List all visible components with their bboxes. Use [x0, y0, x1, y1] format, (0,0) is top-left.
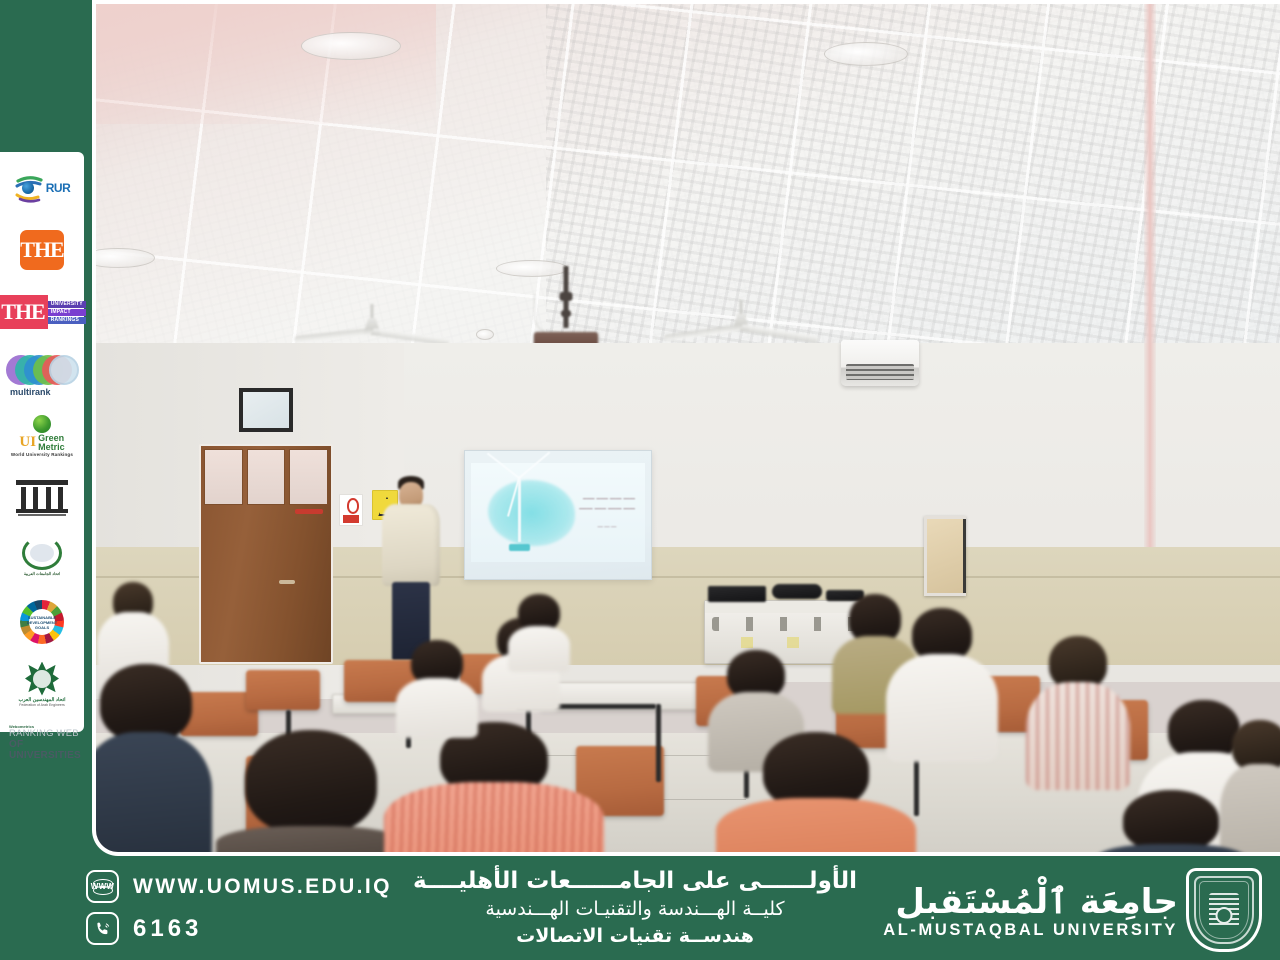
greenmetric-ui-label: UI — [19, 435, 36, 450]
classroom-door — [199, 444, 333, 664]
website-url[interactable]: WWW.UOMUS.EDU.IQ — [133, 875, 392, 899]
presenter — [378, 476, 448, 666]
door-transom-windows — [204, 449, 328, 505]
rur-swoosh-icon — [14, 173, 44, 203]
sdg-wheel-logo: SUSTAINABLE DEVELOPMENT GOALS — [4, 592, 80, 652]
door-red-sticker — [295, 509, 324, 514]
air-conditioner-unit — [841, 340, 919, 386]
webometrics-line-2: OF UNIVERSITIES — [9, 739, 80, 761]
sdg-wheel-icon: SUSTAINABLE DEVELOPMENT GOALS — [20, 600, 64, 644]
banner-line-1: الأولــــــى على الجامــــــعات الأهليــ… — [400, 866, 870, 896]
fae-star-icon — [25, 662, 59, 696]
projection-screen: ــــــ ــــــ ــــــ ــــــ ــــــ ـــــ… — [464, 450, 652, 580]
ceiling-smoke-detector — [476, 329, 494, 340]
website-row[interactable]: WWW WWW.UOMUS.EDU.IQ — [86, 870, 392, 903]
impact-line-1: UNIVERSITY — [48, 301, 86, 308]
webometrics-logo: Webometrics RANKING WEB OF UNIVERSITIES — [4, 716, 80, 768]
sdg-label: SUSTAINABLE DEVELOPMENT GOALS — [29, 609, 55, 635]
slide-turbine-mast — [518, 476, 521, 542]
multirank-label: multirank — [10, 387, 78, 397]
ui-greenmetric-logo: UI Green Metric World University Ranking… — [4, 406, 80, 466]
temple-columns-logo — [4, 468, 80, 528]
university-shield-emblem-icon — [1186, 868, 1262, 952]
student-front-left-1 — [96, 664, 212, 852]
presenter-shirt — [382, 504, 440, 586]
student-front-right-dark — [1096, 790, 1246, 852]
slide-graphic-blob — [488, 480, 575, 546]
rur-logo: RUR — [4, 158, 80, 218]
multirank-logo: multirank — [4, 344, 80, 404]
phone-glyph-icon — [94, 920, 112, 938]
webometrics-line-1: RANKING WEB — [9, 729, 80, 739]
wall-pillar-stripe — [1144, 4, 1156, 564]
fae-arabic-label: اتحاد المهندسين العرب — [11, 697, 73, 703]
temple-icon — [16, 478, 68, 518]
student-mid-3 — [508, 594, 570, 668]
phone-row[interactable]: 6163 — [86, 912, 392, 945]
arab-universities-logo: اتحاد الجامعات العربية — [4, 530, 80, 590]
www-globe-icon: WWW — [86, 870, 119, 903]
the-logo: THE — [4, 220, 80, 280]
the-impact-rankings-logo: THE UNIVERSITY IMPACT RANKINGS — [4, 282, 80, 342]
ceiling-light-1 — [301, 32, 401, 60]
phone-number[interactable]: 6163 — [133, 915, 202, 943]
rur-label: RUR — [46, 181, 71, 195]
the-impact-label: THE — [0, 295, 48, 329]
no-smoking-sign — [339, 494, 363, 526]
greenmetric-sub-label: World University Rankings — [11, 453, 73, 458]
framed-picture-right — [924, 516, 966, 596]
ceiling-light-2 — [824, 42, 908, 66]
phone-icon — [86, 912, 119, 945]
presentation-slide: ــــــ ــــــ ــــــ ــــــ ــــــ ـــــ… — [471, 463, 646, 563]
chair — [246, 670, 320, 710]
federation-arab-engineers-logo: اتحاد المهندسين العرب Federation of Arab… — [4, 654, 80, 714]
greenmetric-metric-label: Metric — [38, 443, 65, 452]
rur-globe-icon — [22, 182, 34, 194]
greenmetric-globe-icon — [33, 415, 51, 433]
student-front-orange — [716, 732, 916, 852]
university-name-arabic: جامِعَة ٱلْمُسْتَقبل — [883, 881, 1178, 923]
slide-arabic-footer: ــــ ــــ ــــ — [584, 524, 629, 529]
www-text-icon: WWW — [91, 882, 115, 891]
banner-line-3: هندســة تقنيات الاتصالات — [400, 923, 870, 950]
slide-turbine-base — [509, 544, 530, 551]
banner-arabic-headings: الأولــــــى على الجامــــــعات الأهليــ… — [400, 866, 870, 950]
laptop-on-cabinet — [708, 586, 766, 602]
rankings-sidebar: RUR THE THE UNIVERSITY IMPACT RANKINGS — [0, 152, 84, 732]
university-brand: جامِعَة ٱلْمُسْتَقبل AL-MUSTAQBAL UNIVER… — [883, 868, 1262, 952]
classroom-lecture-photo: ــــــ ــــــ ــــــ ــــــ ــــــ ـــــ… — [96, 4, 1280, 852]
student-right-striped — [1026, 636, 1130, 786]
fae-english-label: Federation of Arab Engineers — [11, 703, 73, 707]
poster-root: RUR THE THE UNIVERSITY IMPACT RANKINGS — [0, 0, 1280, 960]
student-front-left-2 — [216, 730, 406, 852]
bottom-banner: WWW WWW.UOMUS.EDU.IQ 6163 الأولــــــى ع… — [0, 856, 1280, 960]
banner-line-2: كليــة الهـــندسة والتقنيـات الهـــندسية — [400, 896, 870, 923]
door-handle[interactable] — [279, 580, 295, 584]
wreath-icon — [22, 536, 62, 570]
student-front-pink-stripe — [384, 722, 604, 852]
framed-picture-left — [239, 388, 293, 432]
photo-frame: ــــــ ــــــ ــــــ ــــــ ــــــ ـــــ… — [92, 0, 1280, 856]
ceiling-pink-stain — [96, 4, 436, 124]
university-name-english: AL-MUSTAQBAL UNIVERSITY — [883, 921, 1178, 940]
arab-universities-label: اتحاد الجامعات العربية — [11, 571, 73, 576]
student-mid-1 — [396, 640, 478, 736]
contact-block: WWW WWW.UOMUS.EDU.IQ 6163 — [86, 870, 392, 945]
slide-arabic-text: ــــــ ــــــ ــــــ ــــــ ــــــ ـــــ… — [572, 492, 635, 512]
impact-line-3: RANKINGS — [48, 317, 86, 324]
impact-line-2: IMPACT — [48, 309, 86, 316]
the-label: THE — [20, 230, 64, 270]
bag-on-cabinet — [772, 584, 822, 599]
